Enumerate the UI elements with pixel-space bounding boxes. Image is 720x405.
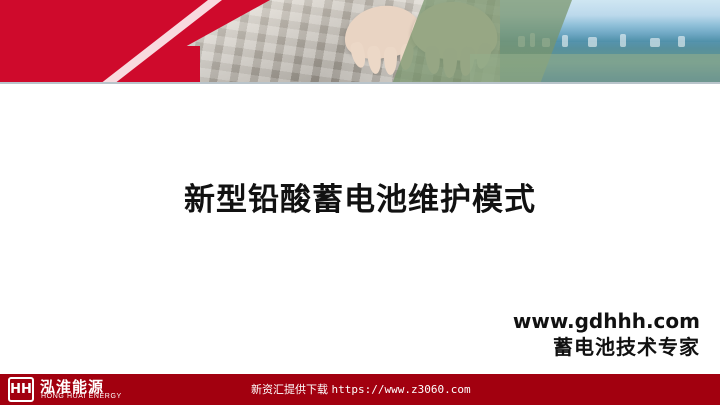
red-band-shape: [0, 46, 200, 84]
company-logo-icon: HH: [8, 377, 34, 402]
building: [620, 34, 626, 47]
building: [678, 36, 685, 47]
building: [588, 37, 597, 47]
download-note-url: https://www.z3060.com: [332, 383, 471, 396]
page-title: 新型铅酸蓄电池维护模式: [0, 182, 720, 219]
top-banner: [0, 0, 720, 84]
slide: 新型铅酸蓄电池维护模式 www.gdhhh.com 蓄电池技术专家 HH 泓淮能…: [0, 0, 720, 405]
green-band-shape: [470, 54, 720, 84]
footer-inner: HH 泓淮能源 HONG HUAI ENERGY 新资汇提供下载 https:/…: [0, 374, 720, 405]
company-name-en: HONG HUAI ENERGY: [41, 393, 122, 400]
website-url: www.gdhhh.com: [513, 308, 700, 334]
footer-bar: HH 泓淮能源 HONG HUAI ENERGY 新资汇提供下载 https:/…: [0, 374, 720, 405]
download-note: 新资汇提供下载 https://www.z3060.com: [251, 381, 471, 397]
banner-divider: [0, 82, 720, 84]
contact-block: www.gdhhh.com 蓄电池技术专家: [513, 308, 700, 361]
building: [650, 38, 660, 47]
building: [562, 35, 568, 47]
tagline: 蓄电池技术专家: [513, 334, 700, 360]
download-note-prefix: 新资汇提供下载: [251, 383, 328, 396]
